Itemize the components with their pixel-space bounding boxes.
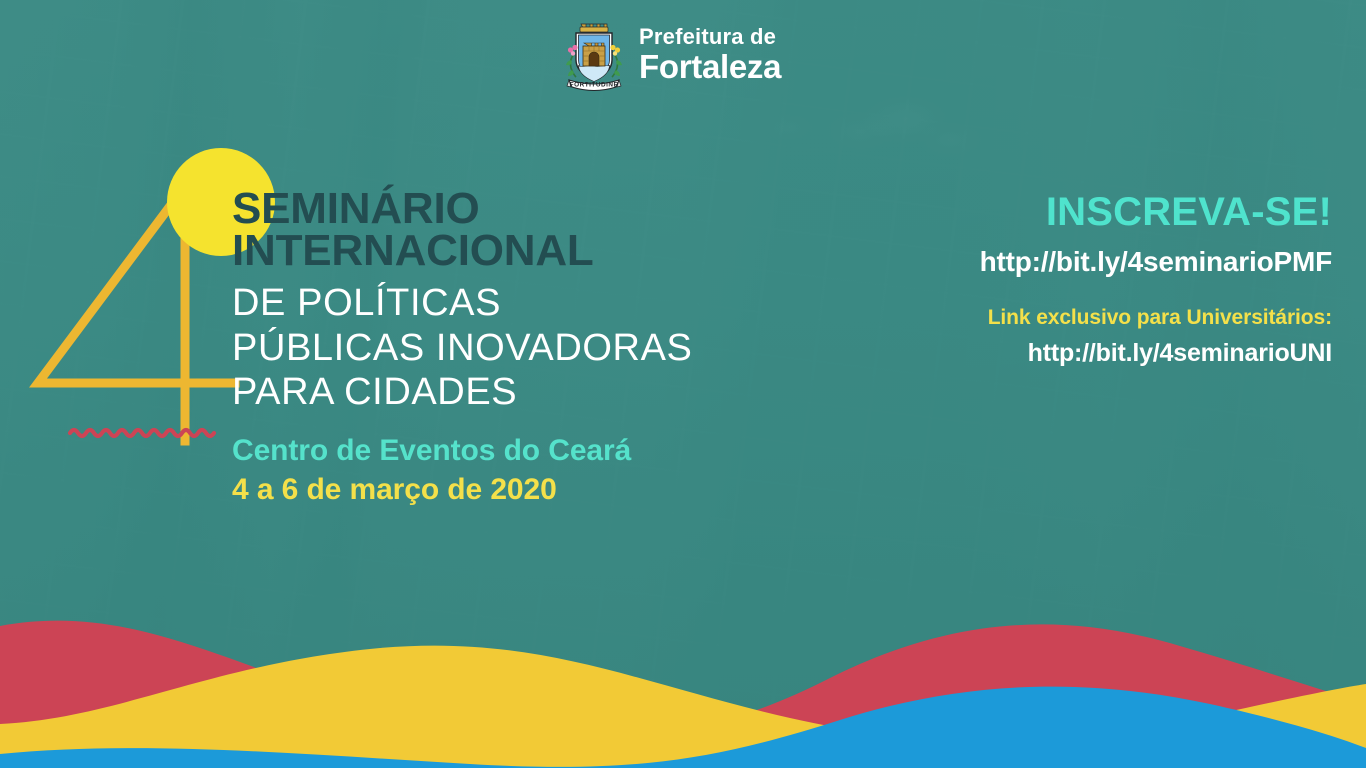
event-copy-block: SEMINÁRIO INTERNACIONAL DE POLÍTICAS PÚB… [232, 188, 932, 507]
event-dates: 4 a 6 de março de 2020 [232, 473, 932, 507]
event-title-line-2: INTERNACIONAL [232, 230, 932, 272]
registration-link-general[interactable]: http://bit.ly/4seminarioPMF [852, 246, 1332, 278]
event-subtitle-line-2: PÚBLICAS INOVADORAS [232, 326, 932, 370]
event-title-line-1: SEMINÁRIO [232, 188, 932, 230]
bottom-wave-bands-icon [0, 568, 1366, 768]
registration-students-note: Link exclusivo para Universitários: [852, 306, 1332, 330]
red-zigzag-underline-icon [70, 430, 214, 436]
fortaleza-coat-of-arms-icon: FORTITUDINE [563, 14, 625, 94]
event-subtitle-line-3: PARA CIDADES [232, 370, 932, 414]
registration-link-students[interactable]: http://bit.ly/4seminarioUNI [852, 339, 1332, 368]
event-poster: FORTITUDINE Prefeitura de Fortaleza SEMI… [0, 0, 1366, 768]
registration-cta: INSCREVA-SE! [852, 192, 1332, 232]
registration-block: INSCREVA-SE! http://bit.ly/4seminarioPMF… [852, 192, 1332, 368]
logo-line-fortaleza: Fortaleza [639, 50, 781, 83]
prefeitura-logo: FORTITUDINE Prefeitura de Fortaleza [563, 14, 781, 94]
logo-line-prefeitura: Prefeitura de [639, 26, 781, 48]
event-subtitle-line-1: DE POLÍTICAS [232, 281, 932, 325]
event-venue: Centro de Eventos do Ceará [232, 434, 932, 468]
svg-text:FORTITUDINE: FORTITUDINE [570, 82, 619, 89]
